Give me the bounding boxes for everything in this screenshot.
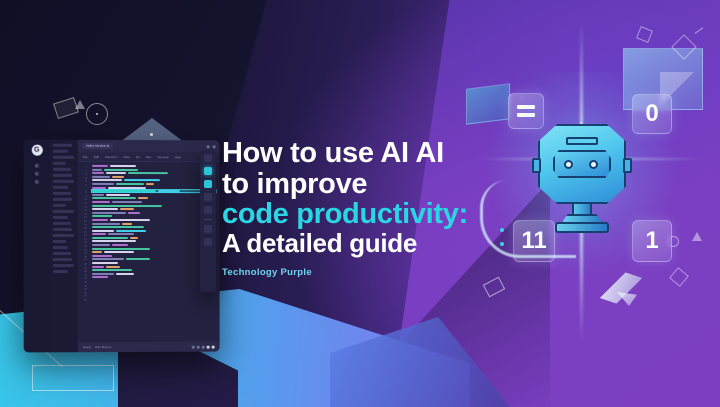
code-line[interactable]: [92, 276, 216, 278]
ai-robot-mascot: [528, 118, 636, 248]
editor-activity-bar[interactable]: G: [24, 140, 50, 353]
code-line-selected[interactable]: [92, 190, 216, 192]
code-line[interactable]: [92, 237, 216, 239]
code-line[interactable]: [92, 233, 216, 235]
headline-line-1: How to use AI AI: [222, 138, 522, 169]
activity-icon-scm[interactable]: [35, 180, 39, 184]
menu-item-file[interactable]: File: [83, 154, 88, 158]
code-line[interactable]: [92, 219, 216, 221]
code-line[interactable]: [92, 251, 216, 253]
terminal-icon[interactable]: [204, 206, 212, 214]
editor-status-bar[interactable]: Ready Dark Modern: [78, 342, 220, 353]
status-icon-layout[interactable]: [212, 345, 215, 348]
code-line[interactable]: [92, 244, 216, 246]
code-line[interactable]: [92, 179, 216, 181]
file-tree-row[interactable]: [53, 180, 74, 183]
status-ready: Ready: [83, 345, 91, 349]
headline-line-4: A detailed guide: [222, 230, 522, 258]
code-line[interactable]: [92, 222, 216, 224]
decor-outline-rectangle: [32, 365, 114, 391]
status-bar-icons[interactable]: [192, 345, 215, 348]
chat-icon[interactable]: [204, 167, 212, 175]
code-line[interactable]: [92, 226, 216, 228]
code-line[interactable]: [92, 258, 216, 260]
file-tree-row[interactable]: [53, 270, 68, 273]
code-line[interactable]: [92, 165, 216, 167]
activity-icon-explorer[interactable]: [35, 164, 39, 168]
line-number: 38: [84, 299, 87, 303]
editor-tab-bar[interactable]: index.service.ts: [78, 140, 220, 153]
file-tree-row[interactable]: [53, 174, 72, 177]
code-line[interactable]: [92, 208, 216, 210]
code-line[interactable]: [92, 194, 216, 196]
editor-file-tree[interactable]: [50, 140, 78, 353]
file-tree-row[interactable]: [53, 228, 72, 231]
more-actions-icon[interactable]: [213, 145, 216, 148]
code-line[interactable]: [92, 273, 216, 275]
file-tree-row[interactable]: [53, 162, 66, 165]
status-icon-bell[interactable]: [192, 345, 195, 348]
file-tree-row[interactable]: [53, 246, 68, 249]
file-tree-row[interactable]: [53, 240, 66, 243]
editor-code-area[interactable]: 1 2 3 4 5 6 7 8 9 10 11 12 13 14 15 16 1: [78, 162, 220, 342]
code-line[interactable]: [92, 201, 216, 203]
code-line[interactable]: [92, 172, 216, 174]
code-line[interactable]: [92, 169, 216, 171]
file-tree-row[interactable]: [53, 186, 68, 189]
headline-block: How to use AI AI to improve code product…: [222, 138, 522, 278]
editor-window-controls[interactable]: [207, 145, 216, 148]
activity-icon-search[interactable]: [35, 172, 39, 176]
editor-main-pane: index.service.ts File Edit Selection Vie…: [78, 140, 220, 352]
menu-item-terminal[interactable]: Terminal: [157, 155, 168, 159]
code-line[interactable]: [92, 204, 216, 206]
search-icon[interactable]: [204, 154, 212, 162]
editor-logo: G: [31, 145, 42, 156]
menu-item-edit[interactable]: Edit: [94, 154, 99, 158]
file-tree-row[interactable]: [53, 144, 72, 147]
robot-eye-right: [589, 160, 598, 169]
file-tree-row[interactable]: [53, 252, 71, 255]
code-line[interactable]: [92, 183, 216, 185]
menu-item-go[interactable]: Go: [136, 155, 140, 159]
robot-face-plate: [553, 150, 611, 178]
headline-line-2: to improve: [222, 169, 522, 200]
code-line[interactable]: [92, 269, 216, 271]
menu-item-selection[interactable]: Selection: [105, 154, 117, 158]
file-tree-row[interactable]: [53, 192, 71, 195]
headline-line-3-accent: code productivity:: [222, 199, 522, 230]
settings-icon[interactable]: [204, 238, 212, 246]
file-tree-row[interactable]: [53, 150, 68, 153]
code-editor-window[interactable]: G: [24, 140, 220, 353]
robot-visor: [566, 137, 598, 145]
code-line[interactable]: [92, 186, 216, 188]
file-tree-row[interactable]: [53, 168, 71, 171]
robot-base: [555, 222, 609, 233]
robot-eye-left: [564, 160, 573, 169]
file-tree-row[interactable]: [53, 216, 68, 219]
file-tree-row[interactable]: [53, 234, 74, 237]
menu-item-run[interactable]: Run: [146, 155, 152, 159]
menu-item-help[interactable]: Help: [175, 155, 181, 159]
robot-ear-right: [623, 158, 632, 173]
file-tree-row[interactable]: [53, 156, 74, 159]
editor-menu-bar[interactable]: File Edit Selection View Go Run Terminal…: [78, 152, 220, 162]
grid-icon[interactable]: [204, 225, 212, 233]
code-line[interactable]: [92, 262, 216, 264]
file-tree-row[interactable]: [53, 264, 74, 267]
editor-tab[interactable]: index.service.ts: [82, 143, 113, 149]
code-line[interactable]: [92, 212, 216, 214]
status-icon-error[interactable]: [202, 345, 205, 348]
menu-item-view[interactable]: View: [123, 155, 129, 159]
file-tree-row[interactable]: [53, 222, 71, 225]
split-editor-icon[interactable]: [207, 145, 210, 148]
sparkle-icon[interactable]: [204, 180, 212, 188]
status-theme-name: Dark Modern: [95, 345, 111, 349]
code-line[interactable]: [92, 266, 216, 268]
file-tree-row[interactable]: [53, 198, 72, 201]
file-tree-row[interactable]: [53, 210, 74, 213]
code-line[interactable]: [92, 176, 216, 178]
code-line[interactable]: [92, 255, 216, 257]
tool-rail-divider: [204, 219, 212, 220]
code-line[interactable]: [92, 230, 216, 232]
code-line[interactable]: [92, 215, 216, 217]
status-icon-panel[interactable]: [207, 345, 210, 348]
history-icon[interactable]: [204, 193, 212, 201]
file-tree-row[interactable]: [53, 204, 66, 207]
brand-label: Technology Purple: [222, 267, 522, 278]
code-line[interactable]: [92, 197, 216, 199]
robot-neck: [572, 202, 592, 216]
editor-tool-rail[interactable]: [200, 150, 216, 292]
file-tree-row[interactable]: [53, 258, 72, 261]
editor-line-numbers: 1 2 3 4 5 6 7 8 9 10 11 12 13 14 15 16 1: [78, 165, 89, 342]
hero-banner: 0 11 1 G: [0, 0, 720, 407]
robot-ear-left: [532, 158, 541, 173]
code-line[interactable]: [92, 240, 216, 242]
status-icon-sync[interactable]: [197, 345, 200, 348]
code-line[interactable]: [92, 248, 216, 250]
